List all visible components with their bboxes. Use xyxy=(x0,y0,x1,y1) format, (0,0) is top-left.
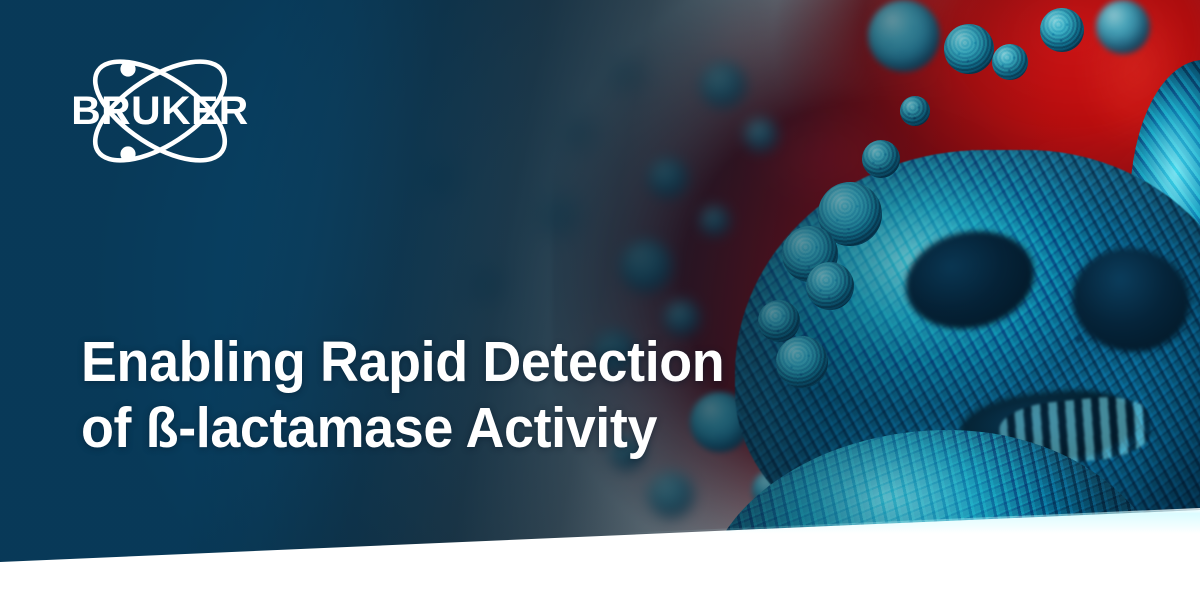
bruker-hero-banner: BRUKER Enabling Rapid Detection of ß-lac… xyxy=(0,0,1200,600)
headline-line-1: Enabling Rapid Detection xyxy=(81,329,799,395)
page-title: Enabling Rapid Detection of ß-lactamase … xyxy=(81,329,799,461)
logo-electron-dot xyxy=(120,146,135,161)
logo-electron-dot xyxy=(120,61,135,76)
logo-wordmark: BRUKER xyxy=(71,87,249,133)
headline-line-2: of ß-lactamase Activity xyxy=(81,395,799,461)
bruker-logo[interactable]: BRUKER xyxy=(58,48,262,174)
